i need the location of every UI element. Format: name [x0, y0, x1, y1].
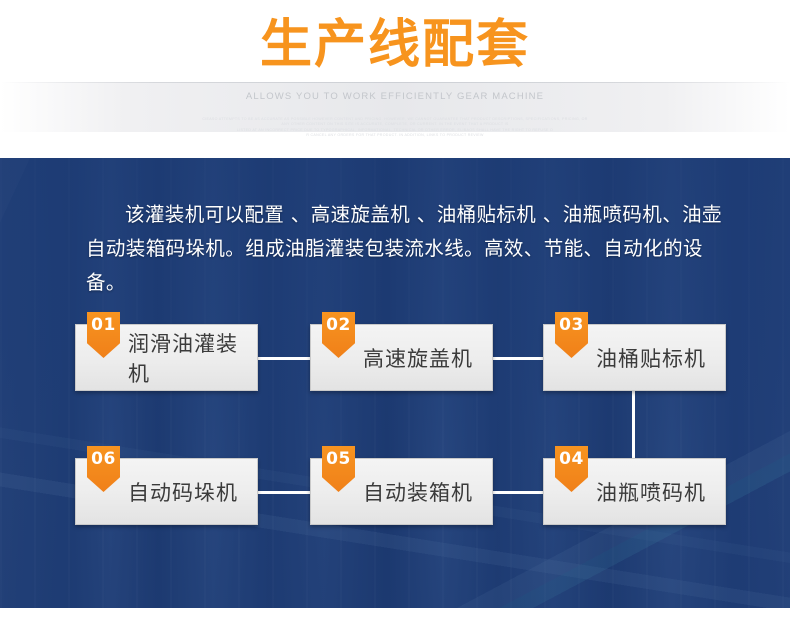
flow-number-06: 06	[91, 446, 116, 472]
flow-badge-04: 04	[555, 446, 588, 492]
flow-label-02: 高速旋盖机	[363, 343, 473, 373]
production-line-flowchart: 01 润滑油灌装机 02 高速旋盖机 03 油桶贴标机 04 油瓶喷码机 05 …	[0, 0, 790, 625]
flow-number-02: 02	[326, 312, 351, 338]
flow-label-05: 自动装箱机	[363, 477, 473, 507]
flow-number-05: 05	[326, 446, 351, 472]
connector-03-to-04	[632, 388, 635, 461]
flow-badge-06: 06	[87, 446, 120, 492]
flow-badge-03: 03	[555, 312, 588, 358]
flow-badge-01: 01	[87, 312, 120, 358]
connector-05-to-06	[258, 491, 310, 494]
flow-label-03: 油桶贴标机	[596, 343, 706, 373]
connector-04-to-05	[492, 491, 544, 494]
flow-label-01: 润滑油灌装机	[128, 328, 257, 388]
flow-number-04: 04	[559, 446, 584, 472]
flow-badge-02: 02	[322, 312, 355, 358]
connector-01-to-02	[258, 357, 310, 360]
flow-node-01[interactable]: 01 润滑油灌装机	[75, 324, 258, 391]
connector-02-to-03	[492, 357, 544, 360]
product-description: 该灌装机可以配置 、高速旋盖机 、油桶贴标机 、油瓶喷码机、油壶自动装箱码垛机。…	[86, 198, 734, 300]
flow-node-03[interactable]: 03 油桶贴标机	[543, 324, 726, 391]
flow-node-02[interactable]: 02 高速旋盖机	[310, 324, 493, 391]
flow-node-04[interactable]: 04 油瓶喷码机	[543, 458, 726, 525]
flow-badge-05: 05	[322, 446, 355, 492]
flow-node-05[interactable]: 05 自动装箱机	[310, 458, 493, 525]
flow-label-04: 油瓶喷码机	[596, 477, 706, 507]
flow-label-06: 自动码垛机	[128, 477, 238, 507]
flow-number-01: 01	[91, 312, 116, 338]
flow-node-06[interactable]: 06 自动码垛机	[75, 458, 258, 525]
flow-number-03: 03	[559, 312, 584, 338]
